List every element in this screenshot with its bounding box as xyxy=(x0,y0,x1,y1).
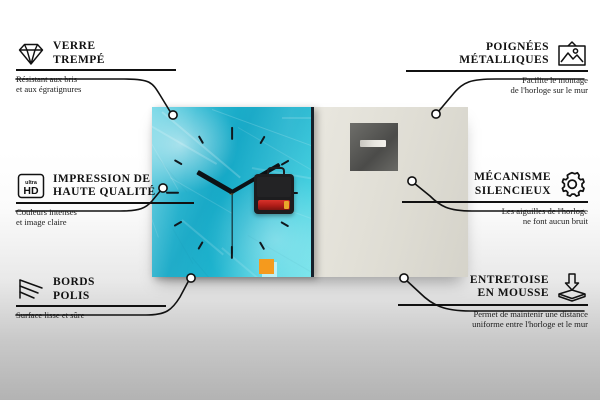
feature-title: MÉCANISME SILENCIEUX xyxy=(474,171,551,198)
feature-header: VERRE TREMPÉ xyxy=(16,40,176,67)
feature-rule xyxy=(16,202,194,204)
mechanism-housing xyxy=(257,177,291,197)
foam-spacer-icon xyxy=(556,272,588,302)
feature-description: Permet de maintenir une distance uniform… xyxy=(398,309,588,330)
feature-description: Facilite le montage de l'horloge sur le … xyxy=(406,75,588,96)
feature-mecanisme-silencieux: MÉCANISME SILENCIEUX Les aiguilles de l'… xyxy=(402,170,588,227)
polished-edges-icon xyxy=(16,277,46,303)
feature-header: ENTRETOISE EN MOUSSE xyxy=(398,272,588,302)
ultra-hd-large-label: HD xyxy=(23,185,39,197)
battery-terminal xyxy=(284,201,289,209)
feature-title: IMPRESSION DE HAUTE QUALITÉ xyxy=(53,173,156,200)
clock-mechanism xyxy=(254,174,294,214)
feature-impression-haute-qualite: ultra HD IMPRESSION DE HAUTE QUALITÉ Cou… xyxy=(16,172,194,228)
feature-bords-polis: BORDS POLIS Surface lisse et sûre xyxy=(16,276,166,320)
hanger-slot xyxy=(360,140,386,147)
feature-description: Couleurs intenses et image claire xyxy=(16,207,194,228)
clock-hand xyxy=(231,192,232,254)
diamond-icon xyxy=(16,41,46,67)
feature-title: VERRE TREMPÉ xyxy=(53,40,105,67)
aa-battery xyxy=(258,200,290,210)
feature-rule xyxy=(406,70,588,72)
clock-tick xyxy=(231,127,233,140)
feature-rule xyxy=(398,304,588,306)
gear-icon xyxy=(558,170,588,199)
feature-description: Les aiguilles de l'horloge ne font aucun… xyxy=(402,206,588,227)
feature-title: POIGNÉES MÉTALLIQUES xyxy=(459,41,549,68)
metal-hanger-plate xyxy=(350,123,398,171)
ultra-hd-icon: ultra HD xyxy=(16,172,46,200)
feature-header: POIGNÉES MÉTALLIQUES xyxy=(406,40,588,68)
feature-title: ENTRETOISE EN MOUSSE xyxy=(470,274,549,301)
infographic-canvas: VERRE TREMPÉ Résistant aux bris et aux é… xyxy=(0,0,600,400)
feature-poignees-metalliques: POIGNÉES MÉTALLIQUES Facilite le montage… xyxy=(406,40,588,96)
feature-description: Surface lisse et sûre xyxy=(16,310,166,321)
feature-rule xyxy=(16,305,166,307)
feature-rule xyxy=(402,201,588,203)
feature-rule xyxy=(16,69,176,71)
feature-title: BORDS POLIS xyxy=(53,276,95,303)
picture-frame-icon xyxy=(556,40,588,68)
feature-verre-trempe: VERRE TREMPÉ Résistant aux bris et aux é… xyxy=(16,40,176,95)
feature-header: ultra HD IMPRESSION DE HAUTE QUALITÉ xyxy=(16,172,194,200)
feature-entretoise-en-mousse: ENTRETOISE EN MOUSSE Permet de maintenir… xyxy=(398,272,588,330)
feature-description: Résistant aux bris et aux égratignures xyxy=(16,74,176,95)
foam-spacer xyxy=(259,259,274,274)
feature-header: MÉCANISME SILENCIEUX xyxy=(402,170,588,199)
feature-header: BORDS POLIS xyxy=(16,276,166,303)
